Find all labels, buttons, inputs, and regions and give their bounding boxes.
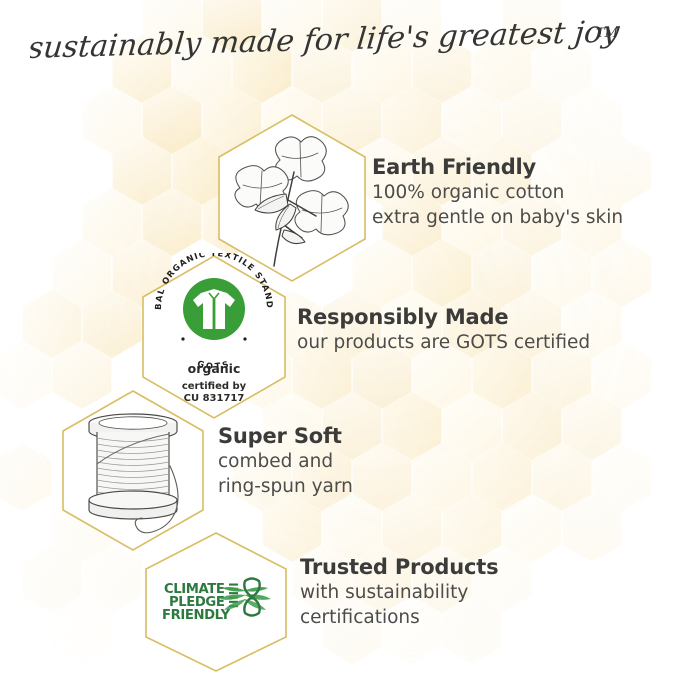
trusted-products-text: Trusted Products with sustainability cer…	[300, 555, 498, 630]
climate-pledge-friendly-icon: CLIMATE PLEDGE FRIENDLY	[140, 531, 292, 673]
trademark-symbol: TM	[596, 26, 619, 41]
headline-script-text: sustainably made for life's greatest joy…	[30, 18, 650, 76]
feature-line: certifications	[300, 605, 498, 630]
feature-title: Trusted Products	[300, 555, 498, 580]
feature-line: with sustainability	[300, 580, 498, 605]
infographic-canvas: sustainably made for life's greatest joy…	[0, 0, 679, 675]
climate-logo-line3: FRIENDLY	[162, 608, 231, 623]
headline: sustainably made for life's greatest joy…	[0, 18, 679, 78]
feature-trusted-products: CLIMATE PLEDGE FRIENDLY	[0, 0, 679, 675]
headline-text: sustainably made for life's greatest joy	[30, 18, 622, 66]
